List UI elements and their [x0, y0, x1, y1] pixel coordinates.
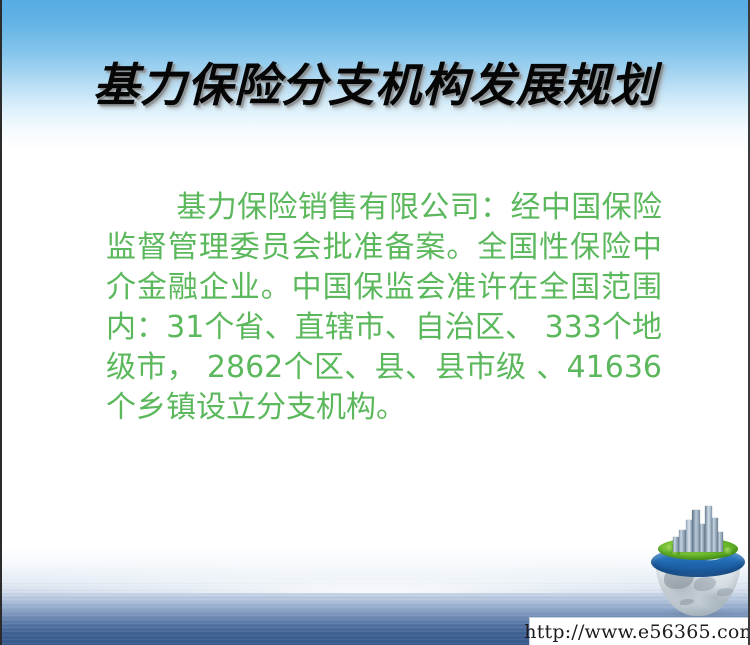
- watermark-box: http://www.e56365.com: [529, 617, 750, 645]
- building-shape: [718, 532, 723, 552]
- slide-title: 基力保险分支机构发展规划: [2, 56, 748, 114]
- watermark-url: http://www.e56365.com: [524, 621, 750, 643]
- slide-body-paragraph: 基力保险销售有限公司：经中国保险监督管理委员会批准备案。全国性保险中介金融企业。…: [106, 188, 662, 428]
- building-shape: [705, 506, 712, 552]
- presentation-slide: 基力保险分支机构发展规划 基力保险销售有限公司：经中国保险监督管理委员会批准备案…: [0, 0, 750, 645]
- eco-city-globe-icon: [648, 514, 748, 618]
- globe-city-skyline: [648, 514, 748, 618]
- building-shape: [679, 530, 686, 552]
- building-shape: [692, 510, 700, 552]
- paragraph-text: 基力保险销售有限公司：经中国保险监督管理委员会批准备案。全国性保险中介金融企业。…: [106, 190, 662, 425]
- tree-icon: [724, 547, 733, 555]
